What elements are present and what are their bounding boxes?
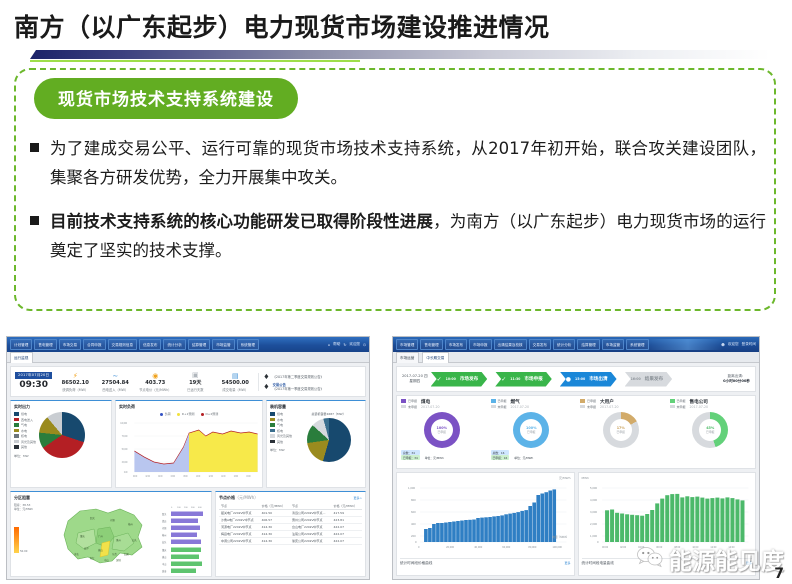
bullet-text: 目前技术支持系统的核心功能研发已取得阶段性进展，为南方（以广东起步）电力现货市场… <box>50 207 766 266</box>
flow-step-time: 11:30 <box>510 377 520 381</box>
legend-item: 核电 <box>14 434 36 438</box>
svg-text:4,000: 4,000 <box>590 498 597 502</box>
card-realtime-load: 实时负荷 负荷 D+1预测 D+2预测 <box>115 400 263 488</box>
legend: 煤电 水电 气电 核电 风光及其他 其他 单位：MW <box>270 412 292 452</box>
svg-text:河源: 河源 <box>110 518 115 522</box>
pie-chart-realtime-output <box>39 412 85 458</box>
kpi-label: 已运行天数 <box>187 387 203 392</box>
bullet-body: 为了建成交易公平、运行可靠的现货市场技术支持系统，从2017年初开始，联合攻关建… <box>50 139 766 187</box>
card-title: 实时出力 <box>14 404 108 410</box>
donut-subtitle: 2017-07-20 <box>690 405 709 409</box>
svg-text:08:00: 08:00 <box>674 546 681 549</box>
nav-item[interactable]: 出清结果及校核 <box>494 339 527 350</box>
kpi-label: 西电送入（MW） <box>102 387 128 392</box>
kpi-value: 403.73 <box>145 380 165 386</box>
kpi-date: 2017年07月20日 <box>15 372 52 379</box>
legend-item: 气电 <box>14 423 36 427</box>
left-navbar: 计划管理 售电管理 市场交易 合同申报 交易规则信息 信息发布 统计分析 结算管… <box>7 337 369 352</box>
svg-text:中山: 中山 <box>162 562 166 566</box>
megaphone-icon: ♦ <box>263 373 269 381</box>
home-icon[interactable]: ⌂ <box>328 343 330 347</box>
svg-text:40,000: 40,000 <box>474 545 483 549</box>
kpi-datetime: 2017年07月20日 09:30 <box>15 372 52 391</box>
legend-item: 风光及其他 <box>14 440 36 444</box>
flow-step-market-release[interactable]: ✓ 10:00 市场发布 <box>431 372 488 387</box>
donut-chart: 17%已申报 <box>603 412 639 448</box>
scale-label: 50.00 <box>20 550 27 553</box>
svg-text:00:00: 00:00 <box>133 476 138 478</box>
list-item: 目前技术支持系统的核心功能研发已取得阶段性进展，为南方（以广东起步）电力现货市场… <box>30 207 766 266</box>
svg-text:阳江: 阳江 <box>90 556 95 560</box>
svg-text:14:00: 14:00 <box>728 546 735 549</box>
right-dashboard-body: 2017-07-20 四 星期四 ✓ 10:00 市场发布 ✓ 11:30 市场… <box>393 363 759 580</box>
nav-item[interactable]: 市场交易 <box>59 339 81 350</box>
donut-chart: 45%已申报 <box>692 412 728 448</box>
svg-text:100,000: 100,000 <box>120 423 127 425</box>
flow-step-label: 市场出清 <box>589 376 607 382</box>
login-time-label: 登录时间 <box>742 342 756 347</box>
svg-text:200: 200 <box>411 534 416 538</box>
kpi-time: 09:30 <box>19 379 48 391</box>
card-realtime-output: 实时出力 煤电 西电送入 气电 水电 核电 风光及其他 其他 单位：MW <box>10 400 112 488</box>
svg-text:00:00: 00:00 <box>602 546 609 549</box>
table-row[interactable]: 中调公司220kV中节点414.30 肇庆公司220kV中节点422.07 <box>219 538 362 545</box>
cell: 清远公司220kV中节点... <box>290 510 331 517</box>
svg-text:肇庆: 肇庆 <box>162 548 167 552</box>
cell: 汕尾公司220kV中节点 <box>290 531 331 538</box>
right-screenshot-panel: 市场管理 售电管理 市场发布 市场申报 出清结果及校核 交易发布 统计分析 结算… <box>392 336 760 580</box>
svg-text:18:00: 18:00 <box>246 476 251 478</box>
bar-chart-generation-bid: 1,000800600 4002000 020,00040,000 60,000… <box>400 480 571 552</box>
nav-item[interactable]: 售电管理 <box>420 339 442 350</box>
kpi-value: 27504.84 <box>102 380 129 386</box>
bar-chart-market-bid: 5,0004,0003,000 2,0001,0000 00:0002:0004… <box>582 480 753 552</box>
donut-unit: 单位：元/MWh <box>512 455 535 460</box>
bolt-icon: ⚡ <box>73 372 78 380</box>
cell: 423.81 <box>332 517 363 524</box>
nav-item[interactable]: 市场申报 <box>469 339 491 350</box>
unit-label: 单位：MW <box>14 454 36 458</box>
power-icon[interactable]: ⏻ <box>363 343 366 347</box>
donut-card-large-user: 已申报 未申报 大用户 2017-07-20 17%已申报 <box>576 396 666 468</box>
svg-text:佛山: 佛山 <box>98 548 103 552</box>
table-row[interactable]: 河源电厂220kV中节点414.30 台山电厂220kV中节点422.07 <box>219 524 362 531</box>
legend-item: 已申报 <box>491 399 507 403</box>
kpi-metric: ∼ 27504.84 西电送入（MW） <box>98 372 132 392</box>
svg-text:珠海: 珠海 <box>162 569 167 573</box>
left-lower-row: 分区阻塞 阻塞：38.53 单位：元/MWh 50.00 <box>10 491 366 577</box>
svg-text:02:00: 02:00 <box>620 546 627 549</box>
cell: 406.57 <box>260 517 290 524</box>
svg-text:600: 600 <box>411 510 416 514</box>
list-item: 为了建成交易公平、运行可靠的现货市场技术支持系统，从2017年初开始，联合攻关建… <box>30 134 766 193</box>
kpi-label: 节点电价（元/MWh） <box>139 387 171 392</box>
color-scale <box>14 527 19 553</box>
countdown: 距离出清： 0小时00分00秒 <box>723 374 750 384</box>
svg-text:惠州: 惠州 <box>116 538 121 542</box>
page-number: 7 <box>774 566 784 582</box>
legend-item: 水电 <box>270 418 292 422</box>
donut-chip-declared: 已申报：34 <box>401 455 420 460</box>
calendar-icon: ▣ <box>192 371 199 379</box>
left-tabstrip: 运行监视 <box>7 352 369 363</box>
svg-text:14:00: 14:00 <box>221 476 226 478</box>
legend-item: 气电 <box>270 423 292 427</box>
legend-item: 已申报 <box>580 399 596 403</box>
nav-item[interactable]: 结算管理 <box>188 339 210 350</box>
map-guangdong[interactable]: 韶关河源梅州 肇庆广州惠州 汕头云浮佛山 东莞汕尾阳江 中山深圳茂名 <box>50 503 160 577</box>
bullet-marker-icon <box>30 143 39 152</box>
pie-chart-installed-capacity <box>307 418 351 462</box>
svg-text:云浮: 云浮 <box>84 546 89 550</box>
cell: 422.07 <box>332 524 363 531</box>
flow-step-time: 10:00 <box>446 377 456 381</box>
svg-text:20,000: 20,000 <box>446 545 455 549</box>
left-navbar-right: ⌂ 帮助 ↻ 欢迎您 ⏻ <box>328 337 366 352</box>
kpi-row: 2017年07月20日 09:30 ⚡ 86502.10 统调负荷（MW） ∼ … <box>10 366 366 397</box>
card-title: 节点价格（元/MWh） <box>219 495 258 501</box>
nav-item[interactable]: 系统管理 <box>237 339 259 350</box>
svg-text:04:00: 04:00 <box>638 546 645 549</box>
legend: 已申报 未申报 <box>491 399 507 409</box>
legend-item: 其他 <box>14 445 36 449</box>
nav-item[interactable]: 统计分析 <box>163 339 185 350</box>
legend-item: D+1预测 <box>177 412 195 416</box>
svg-text:汕尾: 汕尾 <box>124 552 129 556</box>
svg-text:广州: 广州 <box>98 534 103 538</box>
check-icon: ✓ <box>501 376 506 383</box>
cell: 417.59 <box>332 510 363 517</box>
flow-date: 2017-07-20 四 星期四 <box>402 374 428 384</box>
card-market-bid-curve: MWh <box>578 472 757 576</box>
donut-row: 已申报 未申报 煤电 2017-07-20 100%已申报 总数：34 <box>396 395 756 469</box>
kpi-label: 成交电量（MW） <box>222 387 248 392</box>
donut-label: 已申报 <box>527 430 535 434</box>
legend-item: 核电 <box>270 429 292 433</box>
slide-root: 南方（以广东起步）电力现货市场建设推进情况 现货市场技术支持系统建设 为了建成交… <box>0 0 792 584</box>
bar-chart-congestion: 0100200 300400 韶关清远河源 梅州汕头 <box>162 503 208 577</box>
tab-medium-long-term[interactable]: 中长期交易 <box>422 352 449 363</box>
bullet-text: 为了建成交易公平、运行可靠的现货市场技术支持系统，从2017年初开始，联合攻关建… <box>50 134 766 193</box>
cell: 惠州公司220kV中节点 <box>290 517 331 524</box>
cell: 肇庆公司220kV中节点 <box>290 538 331 545</box>
capacity-total-label: 总装机容量4687（MW） <box>295 412 362 416</box>
svg-text:梅州: 梅州 <box>162 533 166 537</box>
svg-text:02:00: 02:00 <box>146 476 151 478</box>
cell: 沙角A电厂220kV中节点 <box>219 517 260 524</box>
legend-item: 未申报 <box>670 405 686 409</box>
svg-text:5,000: 5,000 <box>590 486 597 490</box>
right-bottom-row: 元/MWh <box>396 472 756 576</box>
svg-text:肇庆: 肇庆 <box>80 534 85 538</box>
card-installed-capacity: 装机容量 煤电 水电 气电 核电 风光及其他 其他 单位：MW 总装机容量4 <box>266 400 366 488</box>
flow-step-label: 市场申报 <box>524 376 542 382</box>
welcome-label: 欢迎您 <box>349 342 360 347</box>
cell: 414.30 <box>260 524 290 531</box>
nav-item[interactable]: 市场监管 <box>602 339 624 350</box>
x-axis-unit: 电量（MWh） <box>552 535 568 539</box>
donut-label: 已申报 <box>438 430 446 434</box>
svg-text:汕头: 汕头 <box>162 540 167 544</box>
legend-item: 负荷 <box>160 412 171 416</box>
nav-item[interactable]: 市场发布 <box>445 339 467 350</box>
section-pill: 现货市场技术支持系统建设 <box>34 78 298 119</box>
notice-list: ♦ 《2017年第二季度交易规则公告》 ♦ 交易公告《2017年第一季度交易规则… <box>258 373 361 391</box>
legend-item: 风光及其他 <box>270 434 292 438</box>
coin-icon: ◉ <box>152 372 158 380</box>
legend-item: 西电送入 <box>14 418 36 422</box>
notice-text: 交易公告《2017年第一季度交易规则公告》 <box>273 383 324 391</box>
svg-text:1,000: 1,000 <box>590 534 597 538</box>
legend-item: 水电 <box>14 429 36 433</box>
legend-item: 煤电 <box>270 412 292 416</box>
svg-text:100,000: 100,000 <box>552 545 562 549</box>
cell: 河源电厂220kV中节点 <box>219 524 260 531</box>
nav-item[interactable]: 交易规则信息 <box>108 339 138 350</box>
legend-item: 未申报 <box>491 405 507 409</box>
svg-text:0.00: 0.00 <box>124 472 128 474</box>
countdown-value: 0小时00分00秒 <box>723 379 750 384</box>
kpi-metric: ▣ 19天 已运行天数 <box>178 371 212 392</box>
market-flow-bar: 2017-07-20 四 星期四 ✓ 10:00 市场发布 ✓ 11:30 市场… <box>396 366 756 392</box>
more-link[interactable]: 更多> <box>353 496 362 500</box>
kpi-value: 86502.10 <box>62 380 89 386</box>
svg-text:清远: 清远 <box>162 519 167 523</box>
nav-item[interactable]: 交易发布 <box>529 339 551 350</box>
card-title: 装机容量 <box>270 404 362 410</box>
kpi-value: 54500.00 <box>222 380 249 386</box>
flow-step-time: 16:00 <box>631 377 641 381</box>
donut-subtitle: 2017-07-20 <box>600 405 619 409</box>
svg-text:0: 0 <box>171 507 173 509</box>
cell: 梅县电厂220kV中节点 <box>219 531 260 538</box>
legend-item: 已申报 <box>401 399 417 403</box>
bullet-marker-icon <box>30 216 39 225</box>
legend-item: 其他 <box>270 440 292 444</box>
legend: 已申报 未申报 <box>670 399 686 409</box>
card-zone-congestion: 分区阻塞 阻塞：38.53 单位：元/MWh 50.00 <box>10 491 212 577</box>
donut-card-retailer: 已申报 未申报 售电公司 2017-07-20 45%已申报 <box>666 396 756 468</box>
svg-text:深圳: 深圳 <box>116 558 121 562</box>
svg-text:汕头: 汕头 <box>132 538 137 542</box>
svg-text:16:00: 16:00 <box>234 476 239 478</box>
unit-label: 单位：MW <box>270 448 292 452</box>
cell: 422.07 <box>332 538 363 545</box>
donut-card-gas: 已申报 未申报 燃气 2017-07-20 100%已申报 总数：16 <box>487 396 577 468</box>
nav-item[interactable]: 市场管理 <box>396 339 418 350</box>
svg-text:800: 800 <box>411 498 416 502</box>
flow-step-result-publish[interactable]: 16:00 结果发布 <box>625 372 673 387</box>
svg-text:河源: 河源 <box>162 526 167 530</box>
table-row[interactable]: 梅县电厂220kV中节点414.30 汕尾公司220kV中节点422.07 <box>219 531 362 538</box>
left-dashboard-body: 2017年07月20日 09:30 ⚡ 86502.10 统调负荷（MW） ∼ … <box>7 363 369 580</box>
list-item[interactable]: ♦ 交易公告《2017年第一季度交易规则公告》 <box>263 383 361 391</box>
svg-text:韶关: 韶关 <box>162 512 167 516</box>
donut-chart: 100%已申报 <box>513 412 549 448</box>
table-row[interactable]: 沙角A电厂220kV中节点406.57 惠州公司220kV中节点423.81 <box>219 517 362 524</box>
legend: 已申报 未申报 <box>401 399 417 409</box>
cell: 401.50 <box>260 510 290 517</box>
svg-text:12:00: 12:00 <box>209 476 214 478</box>
svg-text:0: 0 <box>415 540 417 544</box>
cell: 414.30 <box>260 531 290 538</box>
svg-text:25,000: 25,000 <box>122 462 128 464</box>
legend: 煤电 西电送入 气电 水电 核电 风光及其他 其他 单位：MW <box>14 412 36 458</box>
kpi-metric: ◉ 403.73 节点电价（元/MWh） <box>138 372 172 392</box>
svg-text:60,000: 60,000 <box>502 545 511 549</box>
nav-item[interactable]: 合同申报 <box>83 339 105 350</box>
svg-text:韶关: 韶关 <box>90 516 95 520</box>
svg-text:100: 100 <box>177 507 181 509</box>
area-chart-realtime-load: 100,00075,000 50,00025,0000.00 00:0002:0… <box>119 417 259 479</box>
flow-step-time: 15:00 <box>575 377 585 381</box>
title-rule <box>30 50 770 59</box>
svg-text:1,000: 1,000 <box>408 486 415 490</box>
tab-operation-monitor[interactable]: 运行监视 <box>10 352 33 363</box>
right-tabstrip: 市场运营 中长期交易 <box>393 352 759 363</box>
svg-text:06:00: 06:00 <box>656 546 663 549</box>
megaphone-icon: ♦ <box>263 383 269 391</box>
bullet-list: 为了建成交易公平、运行可靠的现货市场技术支持系统，从2017年初开始，联合攻关建… <box>30 134 766 279</box>
kpi-label: 统调负荷（MW） <box>62 387 88 392</box>
kpi-metric: ▤ 54500.00 成交电量（MW） <box>218 372 252 392</box>
flow-step-market-declare[interactable]: ✓ 11:30 市场申报 <box>495 372 552 387</box>
flow-step-market-clearing[interactable]: ● 15:00 市场出清 <box>560 372 617 387</box>
svg-text:0: 0 <box>597 540 599 544</box>
svg-text:80,000: 80,000 <box>528 545 537 549</box>
right-navbar: 市场管理 售电管理 市场发布 市场申报 出清结果及校核 交易发布 统计分析 结算… <box>393 337 759 352</box>
svg-text:东莞: 东莞 <box>112 552 117 556</box>
svg-text:50,000: 50,000 <box>122 449 128 451</box>
bullet-bold-lead: 目前技术支持系统的核心功能研发已取得阶段性进展 <box>50 212 433 231</box>
svg-text:200: 200 <box>184 507 188 509</box>
nav-item[interactable]: 结算管理 <box>577 339 599 350</box>
donut-subtitle: 2017-07-20 <box>421 405 440 409</box>
donut-chip-declared: 已申报：16 <box>491 455 510 460</box>
donut-subtitle: 2017-07-20 <box>511 405 530 409</box>
card-node-price: 节点价格（元/MWh） 更多> 节点 价格（元/MWh） 节点 价格（元/MWh… <box>215 491 366 577</box>
donut-chart: 100%已申报 <box>424 412 460 448</box>
left-screenshot-panel: 计划管理 售电管理 市场交易 合同申报 交易规则信息 信息发布 统计分析 结算管… <box>6 336 370 580</box>
svg-text:75,000: 75,000 <box>122 436 128 438</box>
cell: 韶关电厂220kV中节点 <box>219 510 260 517</box>
svg-text:12:00: 12:00 <box>710 546 717 549</box>
wave-icon: ∼ <box>112 372 118 380</box>
svg-text:04:00: 04:00 <box>158 476 163 478</box>
chart-footer: 统计时间段电量曲线 <box>582 561 614 566</box>
chart-footer: 统计时间段价格曲线 <box>400 561 432 566</box>
svg-text:茂名: 茂名 <box>74 552 79 556</box>
nav-item[interactable]: 信息发布 <box>139 339 161 350</box>
cell: 中调公司220kV中节点 <box>219 538 260 545</box>
node-price-table: 节点 价格（元/MWh） 节点 价格（元/MWh） 韶关电厂220kV中节点40… <box>219 503 362 545</box>
pin-icon: ● <box>566 376 571 383</box>
svg-text:10:00: 10:00 <box>692 546 699 549</box>
svg-text:0: 0 <box>418 545 420 549</box>
welcome-label: 欢迎您 <box>728 342 739 347</box>
kpi-value: 19天 <box>189 379 201 386</box>
right-navbar-right: ☻ 欢迎您 登录时间 <box>721 337 756 352</box>
nav-item[interactable]: 市场监管 <box>212 339 234 350</box>
kpi-metric: ⚡ 86502.10 统调负荷（MW） <box>58 372 92 392</box>
svg-text:400: 400 <box>198 507 202 509</box>
list-item[interactable]: ♦ 《2017年第二季度交易规则公告》 <box>263 373 361 381</box>
donut-card-coal: 已申报 未申报 煤电 2017-07-20 100%已申报 总数：34 <box>397 396 487 468</box>
card-title: 实时负荷 <box>119 404 259 410</box>
page-title: 南方（以广东起步）电力现货市场建设推进情况 <box>14 8 550 44</box>
legend-item: 未申报 <box>401 405 417 409</box>
cell: 台山电厂220kV中节点 <box>290 524 331 531</box>
table-row[interactable]: 韶关电厂220kV中节点401.50 清远公司220kV中节点...417.59 <box>219 510 362 517</box>
cell: 422.07 <box>332 531 363 538</box>
legend: 已申报 未申报 <box>580 399 596 409</box>
legend-item: D+2预测 <box>201 412 219 416</box>
svg-text:佛山: 佛山 <box>162 555 166 559</box>
svg-text:中山: 中山 <box>104 558 109 562</box>
card-generation-bid-curve: 元/MWh <box>396 472 575 576</box>
svg-text:3,000: 3,000 <box>590 510 597 514</box>
svg-text:梅州: 梅州 <box>128 522 133 526</box>
help-label[interactable]: 帮助 <box>333 342 340 347</box>
donut-label: 已申报 <box>617 430 625 434</box>
user-icon: ☻ <box>721 343 725 347</box>
refresh-icon[interactable]: ↻ <box>343 343 346 347</box>
congestion-unit: 单位：元/MWh <box>14 507 48 511</box>
svg-text:08:00: 08:00 <box>183 476 188 478</box>
more-link[interactable]: 更多 <box>564 561 570 566</box>
more-link[interactable]: 更多 <box>746 561 752 566</box>
flow-step-label: 市场发布 <box>460 376 478 382</box>
legend-item: 煤电 <box>14 412 36 416</box>
nav-item[interactable]: 统计分析 <box>553 339 575 350</box>
tab-market-operation[interactable]: 市场运营 <box>396 352 419 363</box>
title-rule-green <box>30 60 360 62</box>
nav-item[interactable]: 计划管理 <box>10 339 32 350</box>
legend-item: 未申报 <box>580 405 596 409</box>
navbar-glow <box>645 339 723 350</box>
svg-text:400: 400 <box>411 522 416 526</box>
svg-text:06:00: 06:00 <box>171 476 176 478</box>
nav-item[interactable]: 售电管理 <box>34 339 56 350</box>
legend-item: 已申报 <box>670 399 686 403</box>
svg-text:10:00: 10:00 <box>196 476 201 478</box>
donut-unit: 单位：元/MWh <box>423 455 446 460</box>
chart-icon: ▤ <box>232 372 239 380</box>
left-card-row: 实时出力 煤电 西电送入 气电 水电 核电 风光及其他 其他 单位：MW <box>10 400 366 488</box>
cell: 414.30 <box>260 538 290 545</box>
notice-text: 《2017年第二季度交易规则公告》 <box>273 375 324 379</box>
svg-text:2,000: 2,000 <box>590 522 597 526</box>
donut-label: 已申报 <box>706 430 714 434</box>
check-icon: ✓ <box>437 376 442 383</box>
svg-text:300: 300 <box>191 507 195 509</box>
card-title: 分区阻塞 <box>14 495 208 501</box>
flow-step-label: 结果发布 <box>645 376 663 382</box>
